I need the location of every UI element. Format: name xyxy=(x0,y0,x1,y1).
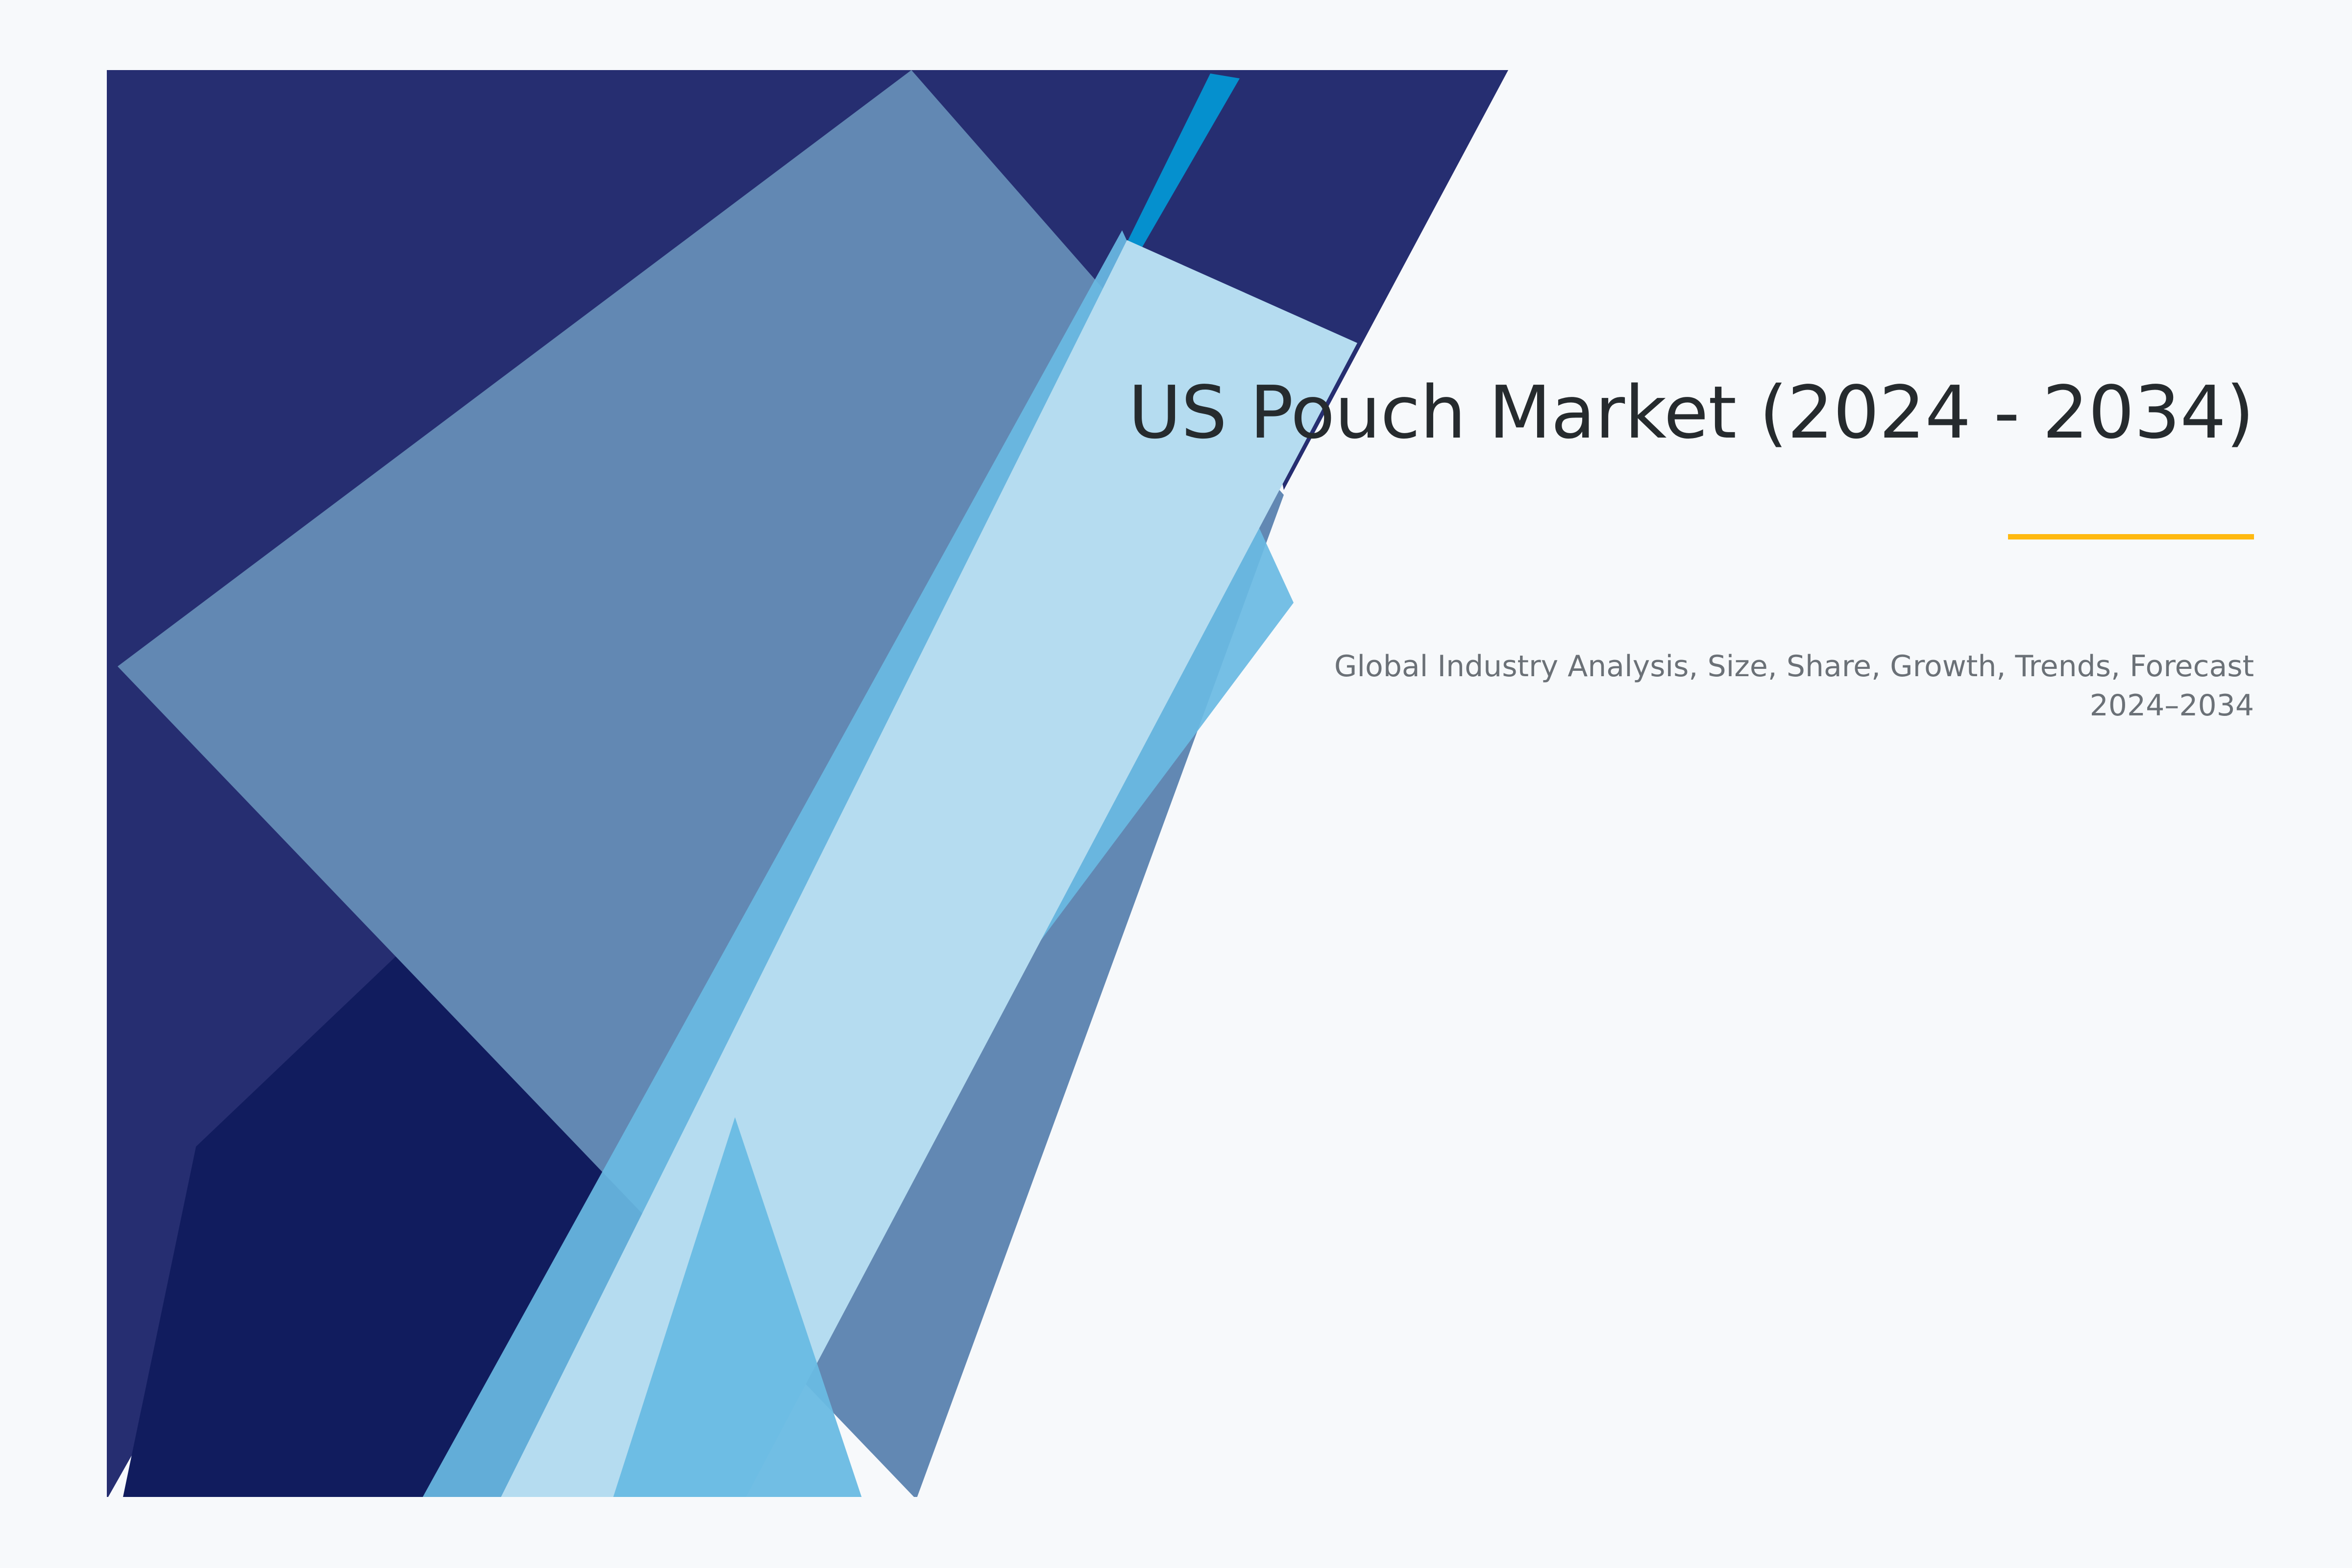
page-title: US Pouch Market (2024 - 2034) xyxy=(1068,372,2254,454)
shape-light-blue-notch xyxy=(612,1117,862,1499)
shape-steel-blue-quad xyxy=(118,70,1284,1499)
report-cover: US Pouch Market (2024 - 2034) Global Ind… xyxy=(0,0,2352,1568)
shape-bright-blue-field xyxy=(107,70,911,1333)
subtitle-block: Global Industry Analysis, Size, Share, G… xyxy=(1274,647,2254,726)
shape-navy-band xyxy=(107,70,916,1499)
abstract-geometric-cover-graphic xyxy=(0,0,2352,1568)
page-subtitle: Global Industry Analysis, Size, Share, G… xyxy=(1274,647,2254,726)
title-accent-rule xyxy=(2008,534,2254,539)
shape-deep-navy-spike xyxy=(122,661,706,1499)
title-block: US Pouch Market (2024 - 2034) xyxy=(1068,372,2254,539)
